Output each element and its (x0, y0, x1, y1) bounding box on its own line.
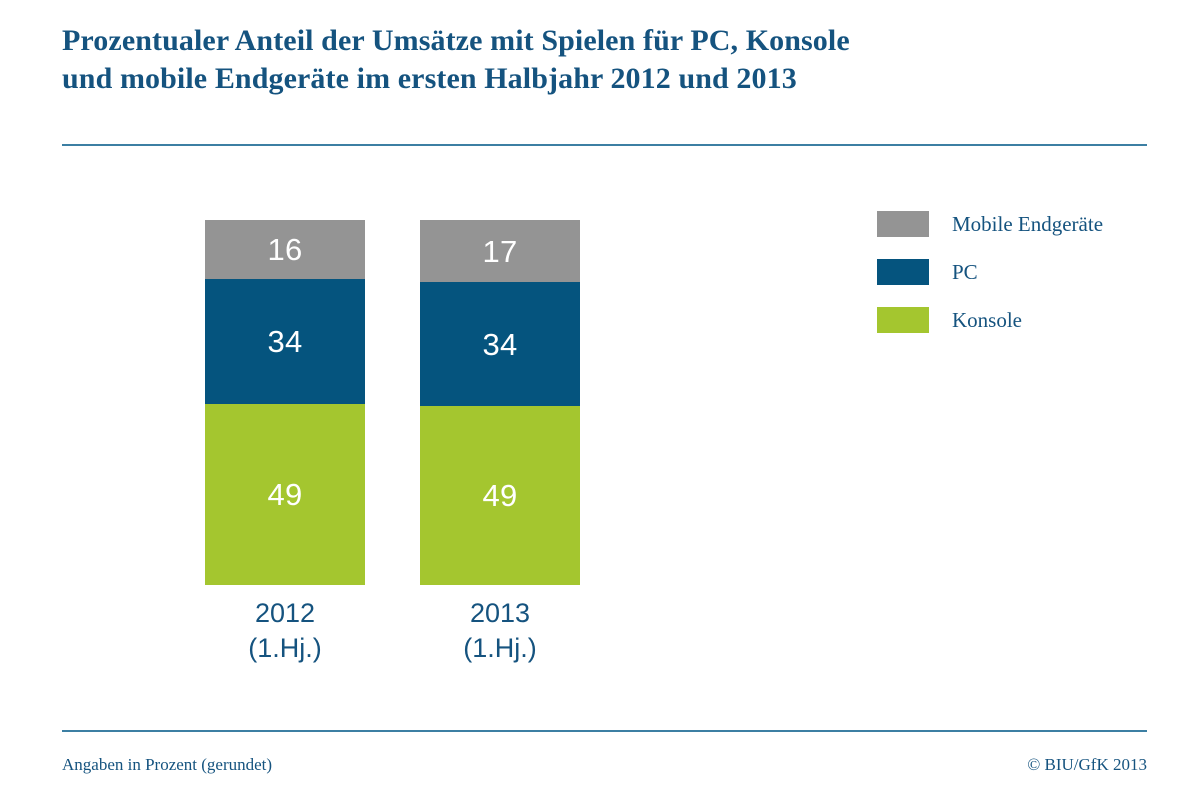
stacked-bar-2012[interactable]: 16 34 49 (205, 220, 365, 585)
category-label-2013: 2013 (1.Hj.) (400, 596, 600, 666)
bar-segment-konsole-2013[interactable]: 49 (420, 406, 580, 585)
divider-bottom (62, 730, 1147, 732)
category-period: (1.Hj.) (400, 631, 600, 666)
category-year: 2013 (470, 598, 530, 628)
footer-copyright: © BIU/GfK 2013 (1027, 755, 1147, 775)
legend-label: Mobile Endgeräte (952, 211, 1103, 237)
legend-item-pc[interactable]: PC (877, 259, 1103, 285)
category-year: 2012 (255, 598, 315, 628)
bar-value-label: 34 (267, 326, 302, 357)
bar-value-label: 16 (267, 234, 302, 265)
bar-segment-pc-2013[interactable]: 34 (420, 282, 580, 406)
stacked-bar-2013[interactable]: 17 34 49 (420, 220, 580, 585)
bar-segment-mobile-2012[interactable]: 16 (205, 220, 365, 279)
category-label-2012: 2012 (1.Hj.) (185, 596, 385, 666)
legend-swatch-icon (877, 307, 929, 333)
chart-plot-area: 16 34 49 17 34 49 2012 (1.Hj.) 2013 (0, 0, 1200, 800)
bar-segment-mobile-2013[interactable]: 17 (420, 220, 580, 282)
legend-label: Konsole (952, 307, 1022, 333)
legend-swatch-icon (877, 211, 929, 237)
bar-value-label: 49 (267, 479, 302, 510)
legend-item-konsole[interactable]: Konsole (877, 307, 1103, 333)
bar-value-label: 49 (482, 480, 517, 511)
bar-segment-konsole-2012[interactable]: 49 (205, 404, 365, 585)
legend-label: PC (952, 259, 978, 285)
category-period: (1.Hj.) (185, 631, 385, 666)
chart-legend: Mobile Endgeräte PC Konsole (877, 211, 1103, 355)
bar-segment-pc-2012[interactable]: 34 (205, 279, 365, 404)
legend-item-mobile-endgeraete[interactable]: Mobile Endgeräte (877, 211, 1103, 237)
footer-note: Angaben in Prozent (gerundet) (62, 755, 272, 775)
bar-value-label: 17 (482, 236, 517, 267)
legend-swatch-icon (877, 259, 929, 285)
bar-value-label: 34 (482, 329, 517, 360)
